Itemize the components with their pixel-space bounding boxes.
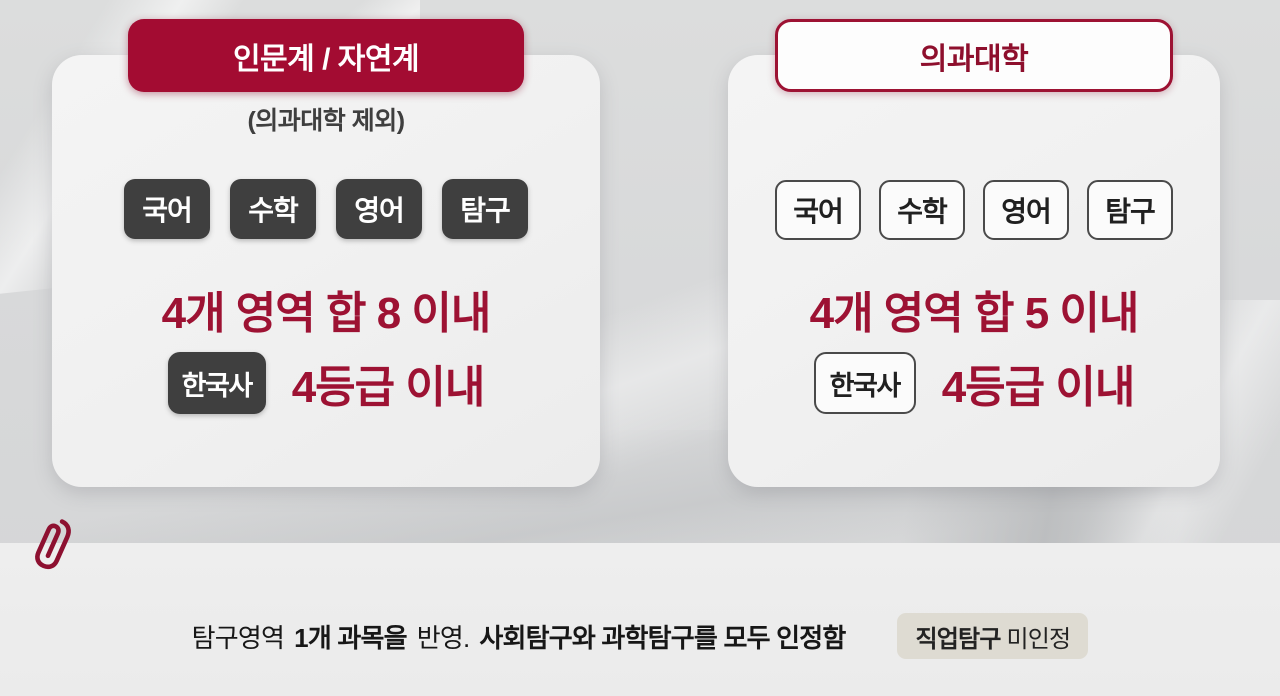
bottom-caption: 탐구영역 1개 과목을 반영. 사회탐구와 과학탐구를 모두 인정함 직업탐구 …: [0, 613, 1280, 659]
panel-medical-college: 의과대학 국어 수학 영어 탐구 4개 영역 합 5 이내 한국사 4등급 이내: [728, 55, 1220, 487]
subject-chip-exploration: 탐구: [1087, 180, 1173, 240]
caption-part3: 반영.: [417, 618, 470, 655]
caption-part1: 탐구영역: [192, 618, 284, 655]
history-chip-left: 한국사: [168, 352, 266, 414]
sum-rule-humanities-natural: 4개 영역 합 8 이내: [52, 277, 600, 341]
paperclip-icon: [22, 513, 80, 575]
panel-subtitle-humanities-natural: (의과대학 제외): [52, 101, 600, 137]
history-row-right: 한국사 4등급 이내: [728, 351, 1220, 415]
panel-humanities-natural: 인문계 / 자연계 (의과대학 제외) 국어 수학 영어 탐구 4개 영역 합 …: [52, 55, 600, 487]
subject-chip-row-right: 국어 수학 영어 탐구: [728, 180, 1220, 240]
caption-part4: 사회탐구와 과학탐구를 모두 인정함: [479, 618, 845, 655]
caption-badge-rest: 미인정: [1006, 619, 1070, 654]
subject-chip-math: 수학: [879, 180, 965, 240]
subject-chip-exploration: 탐구: [442, 179, 528, 239]
subject-chip-korean: 국어: [775, 180, 861, 240]
subject-chip-math: 수학: [230, 179, 316, 239]
history-rule-right: 4등급 이내: [942, 351, 1135, 415]
sum-rule-medical-college: 4개 영역 합 5 이내: [728, 277, 1220, 341]
history-rule-left: 4등급 이내: [292, 351, 485, 415]
caption-badge: 직업탐구 미인정: [897, 613, 1088, 659]
panel-header-humanities-natural: 인문계 / 자연계: [128, 19, 524, 92]
subject-chip-row-left: 국어 수학 영어 탐구: [52, 179, 600, 239]
history-chip-right: 한국사: [814, 352, 916, 414]
subject-chip-english: 영어: [983, 180, 1069, 240]
panel-header-medical-college: 의과대학: [775, 19, 1173, 92]
subject-chip-english: 영어: [336, 179, 422, 239]
subject-chip-korean: 국어: [124, 179, 210, 239]
caption-badge-bold: 직업탐구: [915, 619, 1000, 654]
caption-part2: 1개 과목을: [294, 618, 407, 655]
infographic-stage: 인문계 / 자연계 (의과대학 제외) 국어 수학 영어 탐구 4개 영역 합 …: [0, 0, 1280, 696]
history-row-left: 한국사 4등급 이내: [52, 351, 600, 415]
